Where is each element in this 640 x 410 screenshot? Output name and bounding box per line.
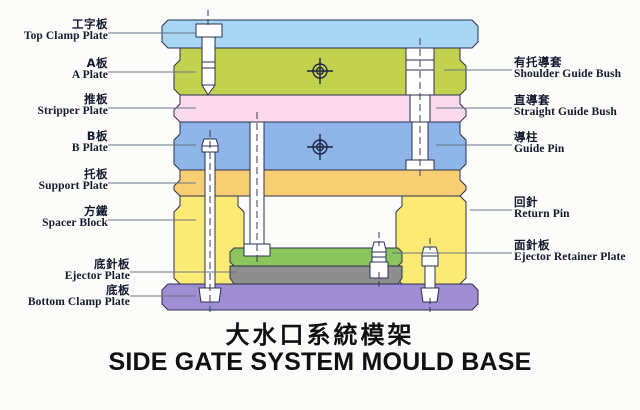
label-return-pin: 回針 Return Pin xyxy=(514,196,570,220)
label-a-plate-en: A Plate xyxy=(0,69,108,81)
label-support-plate: 托板 Support Plate xyxy=(0,168,108,192)
label-return-pin-en: Return Pin xyxy=(514,208,570,220)
label-ejector-retainer-plate-cn: 面針板 xyxy=(514,239,626,251)
title-chinese: 大水口系統模架 xyxy=(0,315,640,350)
label-support-plate-cn: 托板 xyxy=(0,168,108,180)
label-top-clamp-plate-cn: 工字板 xyxy=(0,18,108,30)
label-shoulder-guide-bush: 有托導套 Shoulder Guide Bush xyxy=(514,56,621,80)
label-stripper-plate: 推板 Stripper Plate xyxy=(0,93,108,117)
label-straight-guide-bush-en: Straight Guide Bush xyxy=(514,106,617,118)
label-spacer-block-cn: 方鐵 xyxy=(0,205,108,217)
label-a-plate: A板 A Plate xyxy=(0,57,108,81)
label-b-plate: B板 B Plate xyxy=(0,130,108,154)
label-ejector-plate-cn: 底針板 xyxy=(0,258,130,270)
label-straight-guide-bush-cn: 直導套 xyxy=(514,94,617,106)
label-ejector-retainer-plate-en: Ejector Retainer Plate xyxy=(514,251,626,263)
label-a-plate-cn: A板 xyxy=(0,57,108,69)
label-b-plate-cn: B板 xyxy=(0,130,108,142)
label-ejector-plate: 底針板 Ejector Plate xyxy=(0,258,130,282)
label-stripper-plate-en: Stripper Plate xyxy=(0,105,108,117)
label-bottom-clamp-plate-en: Bottom Clamp Plate xyxy=(0,296,130,308)
label-bottom-clamp-plate-cn: 底板 xyxy=(0,284,130,296)
label-top-clamp-plate: 工字板 Top Clamp Plate xyxy=(0,18,108,42)
label-guide-pin-en: Guide Pin xyxy=(514,143,564,155)
label-return-pin-cn: 回針 xyxy=(514,196,570,208)
title-english: SIDE GATE SYSTEM MOULD BASE xyxy=(0,348,640,377)
label-ejector-plate-en: Ejector Plate xyxy=(0,270,130,282)
label-b-plate-en: B Plate xyxy=(0,142,108,154)
label-ejector-retainer-plate: 面針板 Ejector Retainer Plate xyxy=(514,239,626,263)
label-spacer-block-en: Spacer Block xyxy=(0,217,108,229)
label-stripper-plate-cn: 推板 xyxy=(0,93,108,105)
label-guide-pin-cn: 導柱 xyxy=(514,131,564,143)
diagram-stage: 工字板 Top Clamp Plate A板 A Plate 推板 Stripp… xyxy=(0,0,640,410)
label-top-clamp-plate-en: Top Clamp Plate xyxy=(0,30,108,42)
label-shoulder-guide-bush-cn: 有托導套 xyxy=(514,56,621,68)
label-bottom-clamp-plate: 底板 Bottom Clamp Plate xyxy=(0,284,130,308)
plate-support-plate xyxy=(174,170,466,196)
label-guide-pin: 導柱 Guide Pin xyxy=(514,131,564,155)
label-spacer-block: 方鐵 Spacer Block xyxy=(0,205,108,229)
label-support-plate-en: Support Plate xyxy=(0,180,108,192)
label-straight-guide-bush: 直導套 Straight Guide Bush xyxy=(514,94,617,118)
label-shoulder-guide-bush-en: Shoulder Guide Bush xyxy=(514,68,621,80)
